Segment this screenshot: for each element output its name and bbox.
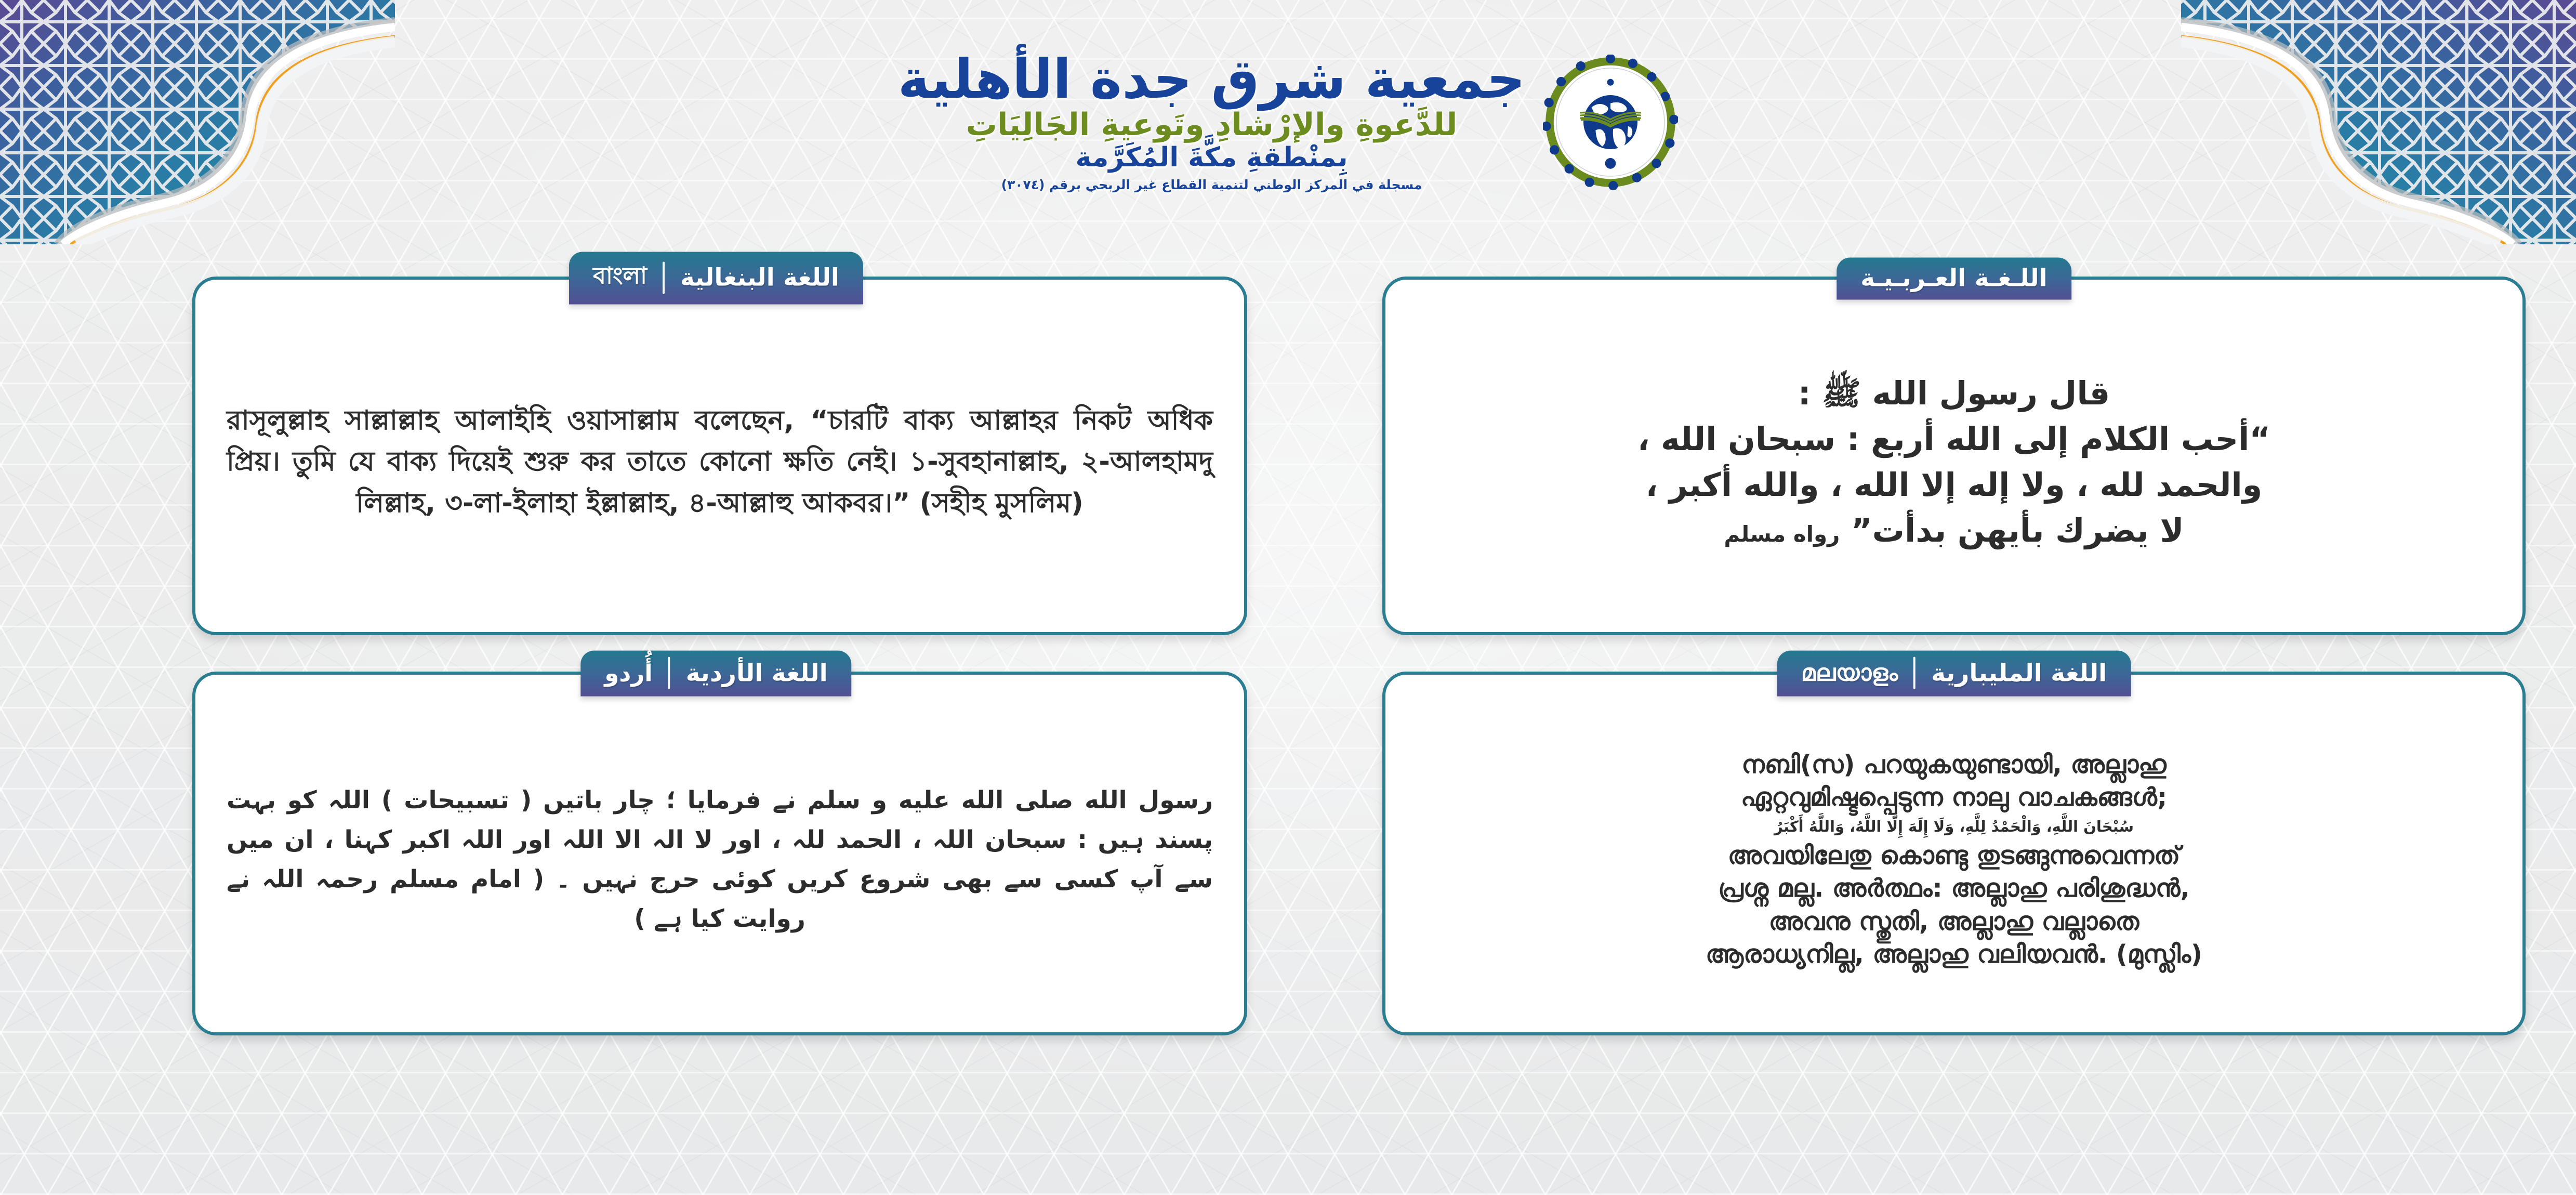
- malayalam-line-3: അവയിലേതു കൊണ്ടു തുടങ്ങുന്നുവെന്നത്: [1417, 839, 2491, 872]
- badge-urdu[interactable]: اللغة الأردية أُردو: [580, 651, 851, 697]
- badge-separator: [668, 657, 670, 689]
- malayalam-line-2: ഏറ്റവുമിഷ്ടപ്പെടുന്ന നാലു വാചകങ്ങൾ;: [1417, 781, 2491, 814]
- card-bengali-body: রাসূলুল্লাহ সাল্লাল্লাহ আলাইহি ওয়াসাল্ল…: [195, 280, 1244, 632]
- malayalam-hadith-text: നബി(സ) പറയുകയുണ്ടായി, അല്ലാഹു ഏറ്റവുമിഷ്…: [1417, 748, 2491, 971]
- badge-malayalam-arabic-label: اللغة المليبارية: [1931, 659, 2107, 687]
- arabic-line-3: والحمد لله ، ولا إله إلا الله ، والله أك…: [1417, 462, 2491, 508]
- card-malayalam-body: നബി(സ) പറയുകയുണ്ടായി, അല്ലാഹു ഏറ്റവുമിഷ്…: [1385, 675, 2522, 1032]
- urdu-hadith-text: رسول الله صلى الله عليه و سلم نے فرمایا …: [227, 781, 1213, 939]
- badge-arabic-label: اللـغـة العـربـيـة: [1860, 264, 2047, 292]
- arabic-line-4: لا يضرك بأيهن بدأت”: [1851, 511, 2184, 549]
- malayalam-line-1: നബി(സ) പറയുകയുണ്ടായി, അല്ലാഹു: [1417, 748, 2491, 781]
- arabic-line-1: قال رسول الله ﷺ :: [1417, 371, 2491, 416]
- card-arabic-body: قال رسول الله ﷺ : “أحب الكلام إلى الله أ…: [1385, 280, 2522, 632]
- card-bengali: রাসূলুল্লাহ সাল্লাল্লাহ আলাইহি ওয়াসাল্ল…: [192, 277, 1247, 635]
- organization-logo-icon: [1543, 55, 1678, 190]
- card-malayalam: നബി(സ) പറയുകയുണ്ടായി, അല്ലാഹു ഏറ്റവുമിഷ്…: [1382, 672, 2526, 1035]
- org-title: جمعية شرق جدة الأهلية: [898, 51, 1526, 107]
- badge-urdu-arabic-label: اللغة الأردية: [686, 659, 828, 687]
- card-arabic: قال رسول الله ﷺ : “أحب الكلام إلى الله أ…: [1382, 277, 2526, 635]
- malayalam-line-6: ആരാധ്യനില്ല, അല്ലാഹു വലിയവൻ. (മുസ്ലിം): [1417, 938, 2491, 971]
- badge-arabic[interactable]: اللـغـة العـربـيـة: [1837, 257, 2071, 299]
- malayalam-line-4: പ്രശ്ന മല്ല. അർത്ഥം: അല്ലാഹു പരിശുദ്ധൻ,: [1417, 872, 2491, 905]
- badge-bengali[interactable]: اللغة البنغالية বাংলা: [569, 252, 863, 304]
- organization-title-block: جمعية شرق جدة الأهلية للدَّعوةِ والإرْشا…: [898, 51, 1526, 192]
- bengali-hadith-text: রাসূলুল্লাহ সাল্লাল্লাহ আলাইহি ওয়াসাল্ল…: [227, 400, 1213, 523]
- arabic-line-4-with-narrator: لا يضرك بأيهن بدأت” رواه مسلم: [1417, 508, 2491, 554]
- badge-malayalam[interactable]: اللغة المليبارية മലയാളം: [1777, 651, 2131, 697]
- badge-separator: [1913, 657, 1916, 689]
- badge-bengali-native-label: বাংলা: [593, 258, 647, 297]
- card-urdu: رسول الله صلى الله عليه و سلم نے فرمایا …: [192, 672, 1247, 1035]
- malayalam-line-5: അവനു സ്തുതി, അല്ലാഹു വല്ലാതെ: [1417, 905, 2491, 938]
- language-cards-grid: রাসূলুল্লাহ সাল্লাল্লাহ আলাইহি ওয়াসাল্ল…: [0, 244, 2576, 1195]
- malayalam-inline-arabic: سُبْحَانَ اللَّهِ، وَالْحَمْدُ لِلَّهِ، …: [1417, 816, 2491, 837]
- org-subtitle: للدَّعوةِ والإرْشادِ وتَوعيةِ الجَالِيَا…: [966, 108, 1458, 142]
- arabic-hadith-text: قال رسول الله ﷺ : “أحب الكلام إلى الله أ…: [1417, 371, 2491, 554]
- badge-malayalam-native-label: മലയാളം: [1801, 659, 1898, 687]
- poster-header: جمعية شرق جدة الأهلية للدَّعوةِ والإرْشا…: [0, 0, 2576, 244]
- badge-separator: [663, 261, 665, 294]
- org-registration: مسجلة في المركز الوطني لتنمية القطاع غير…: [1001, 177, 1422, 193]
- card-urdu-body: رسول الله صلى الله عليه و سلم نے فرمایا …: [195, 675, 1244, 1032]
- arabic-narrator: رواه مسلم: [1724, 521, 1840, 547]
- badge-urdu-native-label: أُردو: [604, 659, 652, 687]
- arabic-line-2: “أحب الكلام إلى الله أربع : سبحان الله ،: [1417, 416, 2491, 462]
- org-region: بِمنْطقةِ مكَّةَ المُكَرَّمة: [1076, 143, 1348, 173]
- badge-bengali-arabic-label: اللغة البنغالية: [680, 263, 839, 292]
